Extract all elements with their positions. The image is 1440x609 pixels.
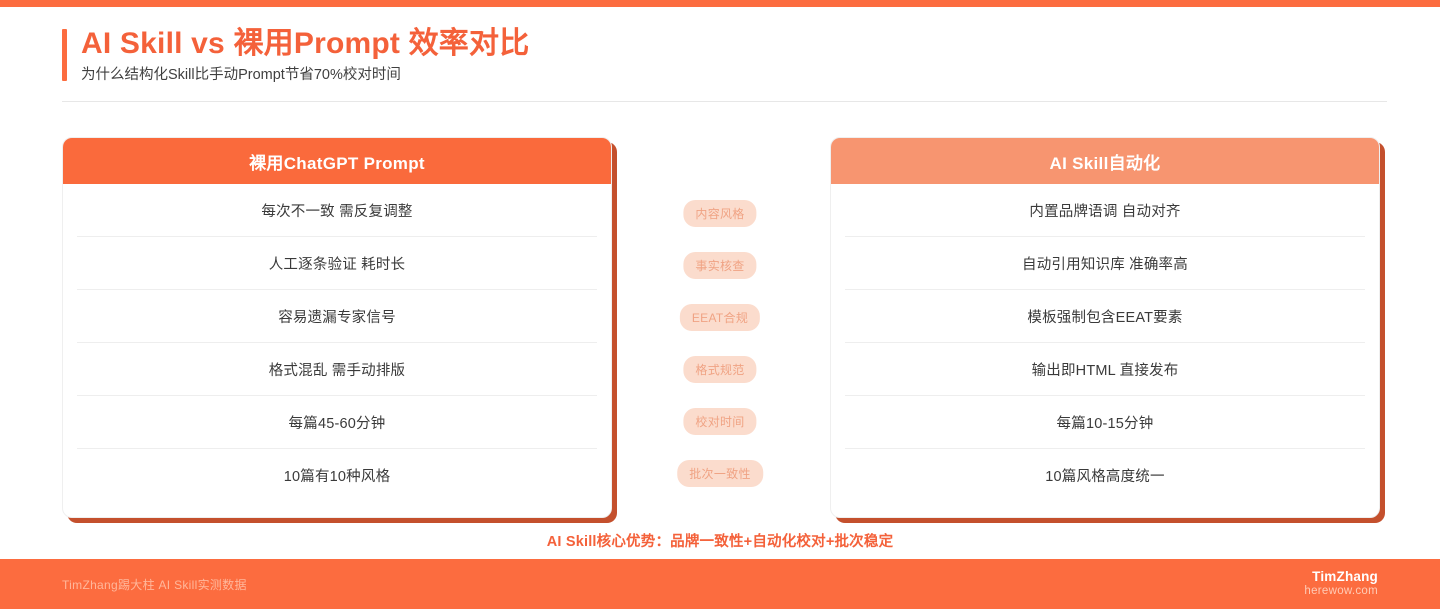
card-prompt-rows: 每次不一致 需反复调整 人工逐条验证 耗时长 容易遗漏专家信号 格式混乱 需手动… (63, 184, 611, 501)
card-prompt-title: 裸用ChatGPT Prompt (63, 138, 611, 184)
list-item: 每篇10-15分钟 (845, 395, 1365, 448)
list-item: 每次不一致 需反复调整 (77, 184, 597, 236)
list-item: 模板强制包含EEAT要素 (845, 289, 1365, 342)
page-footer: TimZhang踢大柱 AI Skill实测数据 TimZhang herewo… (0, 559, 1440, 609)
list-item: 自动引用知识库 准确率高 (845, 236, 1365, 289)
summary-text: AI Skill核心优势：品牌一致性+自动化校对+批次稳定 (0, 530, 1440, 551)
list-item: 内置品牌语调 自动对齐 (845, 184, 1365, 236)
footer-source-text: TimZhang踢大柱 AI Skill实测数据 (62, 576, 247, 593)
card-ai-skill-title: AI Skill自动化 (831, 138, 1379, 184)
comparison-section: 裸用ChatGPT Prompt 每次不一致 需反复调整 人工逐条验证 耗时长 … (0, 137, 1440, 522)
page-title: AI Skill vs 裸用Prompt 效率对比 (81, 26, 529, 61)
page-header: AI Skill vs 裸用Prompt 效率对比 为什么结构化Skill比手动… (62, 26, 1387, 85)
title-texts: AI Skill vs 裸用Prompt 效率对比 为什么结构化Skill比手动… (81, 26, 529, 85)
card-ai-skill: AI Skill自动化 内置品牌语调 自动对齐 自动引用知识库 准确率高 模板强… (830, 137, 1380, 518)
criteria-chip: 校对时间 (683, 408, 756, 435)
footer-site-url: herewow.com (1304, 585, 1378, 597)
criteria-chip: 批次一致性 (677, 460, 763, 487)
list-item: 格式混乱 需手动排版 (77, 342, 597, 395)
list-item: 人工逐条验证 耗时长 (77, 236, 597, 289)
criteria-chip: EEAT合规 (680, 304, 760, 331)
criteria-chip: 格式规范 (683, 356, 756, 383)
list-item: 输出即HTML 直接发布 (845, 342, 1365, 395)
list-item: 10篇风格高度统一 (845, 448, 1365, 501)
card-ai-skill-rows: 内置品牌语调 自动对齐 自动引用知识库 准确率高 模板强制包含EEAT要素 输出… (831, 184, 1379, 501)
header-divider (62, 101, 1387, 102)
list-item: 每篇45-60分钟 (77, 395, 597, 448)
criteria-chip-column: 内容风格 事实核查 EEAT合规 格式规范 校对时间 批次一致性 (620, 137, 820, 518)
page-subtitle: 为什么结构化Skill比手动Prompt节省70%校对时间 (81, 66, 529, 85)
footer-brand-name: TimZhang (1304, 569, 1378, 584)
title-accent-bar (62, 29, 67, 81)
criteria-chip: 内容风格 (683, 200, 756, 227)
top-accent-bar (0, 0, 1440, 7)
card-prompt: 裸用ChatGPT Prompt 每次不一致 需反复调整 人工逐条验证 耗时长 … (62, 137, 612, 518)
list-item: 容易遗漏专家信号 (77, 289, 597, 342)
criteria-chip: 事实核查 (683, 252, 756, 279)
list-item: 10篇有10种风格 (77, 448, 597, 501)
footer-brand-block: TimZhang herewow.com (1304, 569, 1378, 597)
title-row: AI Skill vs 裸用Prompt 效率对比 为什么结构化Skill比手动… (62, 26, 1387, 85)
